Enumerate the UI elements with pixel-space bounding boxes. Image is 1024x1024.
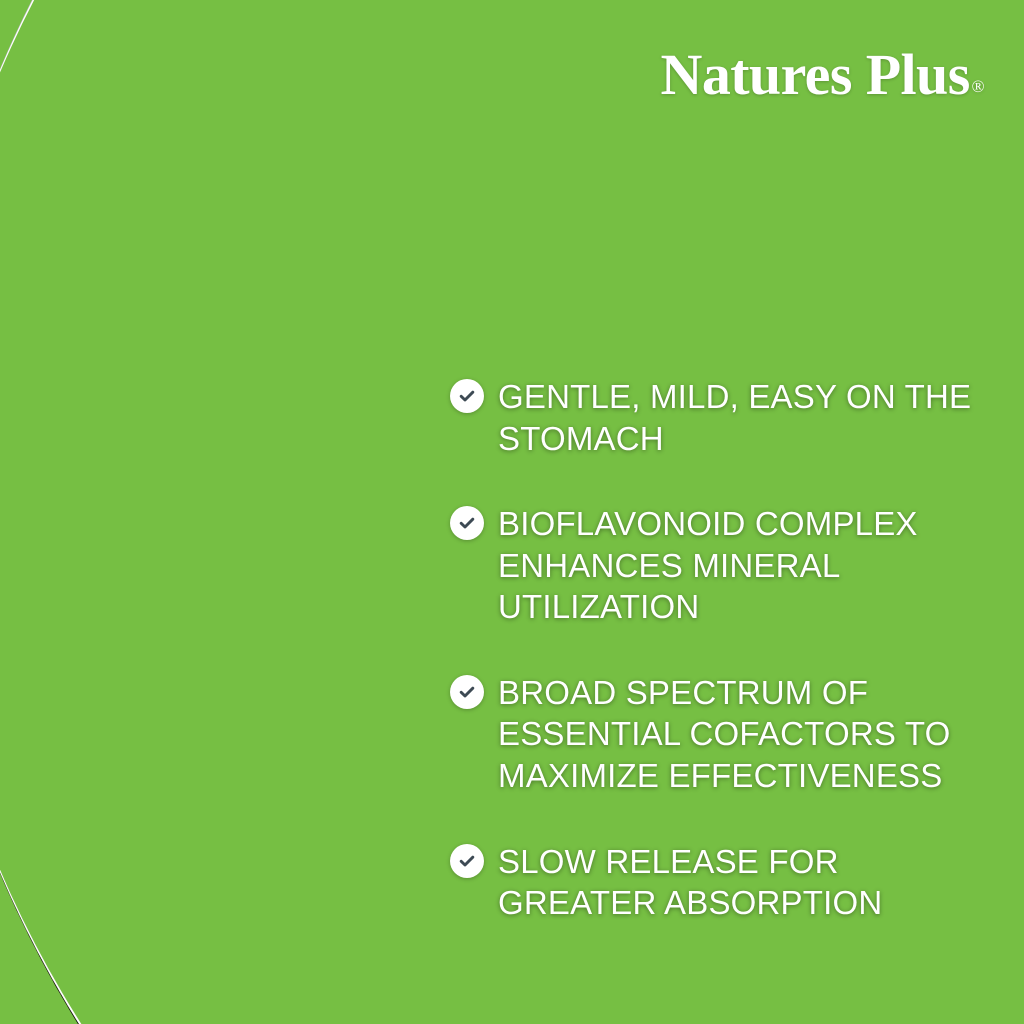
list-item: BIOFLAVONOID COMPLEX ENHANCES MINERAL UT…	[450, 503, 990, 628]
list-item: SLOW RELEASE FOR GREATER ABSORPTION	[450, 841, 990, 924]
list-item: GENTLE, MILD, EASY ON THE STOMACH	[450, 376, 990, 459]
check-circle-icon	[450, 844, 484, 878]
check-circle-icon	[450, 675, 484, 709]
content-overlay: Natures Plus® GENTLE, MILD, EASY ON THE …	[0, 0, 1024, 1024]
brand-logo-text: Natures Plus	[661, 42, 970, 107]
product-benefits-banner: Natures Plus® GENTLE, MILD, EASY ON THE …	[0, 0, 1024, 1024]
brand-logo: Natures Plus®	[661, 46, 982, 104]
registered-trademark-icon: ®	[972, 77, 984, 96]
check-circle-icon	[450, 379, 484, 413]
benefit-label: BROAD SPECTRUM OF ESSENTIAL COFACTORS TO…	[498, 672, 990, 797]
benefit-label: SLOW RELEASE FOR GREATER ABSORPTION	[498, 841, 990, 924]
benefit-label: GENTLE, MILD, EASY ON THE STOMACH	[498, 376, 990, 459]
list-item: BROAD SPECTRUM OF ESSENTIAL COFACTORS TO…	[450, 672, 990, 797]
benefit-label: BIOFLAVONOID COMPLEX ENHANCES MINERAL UT…	[498, 503, 990, 628]
check-circle-icon	[450, 506, 484, 540]
benefits-list: GENTLE, MILD, EASY ON THE STOMACH BIOFLA…	[450, 376, 990, 924]
